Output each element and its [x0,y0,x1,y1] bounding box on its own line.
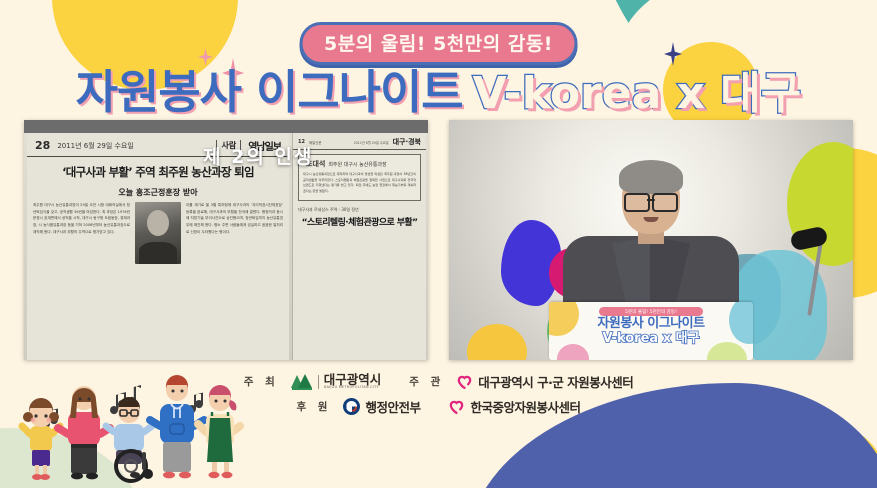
stage-photo: 5분의 울림! 5천만의 감동! 자원봉사 이그나이트 V-korea x 대구 [449,120,853,360]
sponsor-ministry: 행정안전부 [343,397,420,416]
page-number: 28 [35,139,50,152]
eyeglasses-icon [624,193,678,208]
figure-woman-pink [58,386,110,479]
section-label-secondary: 대구·경북 [393,137,421,147]
volunteer-heart-logo-icon [456,373,473,390]
title-korean: 자원봉사 이그나이트 [76,65,463,119]
volunteer-heart-logo-icon [448,398,465,415]
podium-banner: 5분의 울림! 5천만의 감동! 자원봉사 이그나이트 V-korea x 대구 [549,302,753,360]
newspaper-clipping: 28 2011년 6월 29일 수요일 사람 영남일보 ‘대구사과 부활’ 주역… [24,120,428,360]
publication-date-secondary: 2011년 6월 29일 수요일 [354,140,389,145]
daegu-mountain-logo-icon [291,374,313,390]
media-row: 28 2011년 6월 29일 수요일 사람 영남일보 ‘대구사과 부활’ 주역… [24,120,853,360]
article-text-right: 이를 계기로 올 3월 특허청에 대구사과의 ‘지리적표시단체표장’ 등록을 완… [186,202,283,264]
moi-taegeuk-logo-icon [343,398,360,415]
figure-child [22,398,60,480]
interview-box: 초대석최주원 대구시 농산유통과장 대구시 농산유통과장으로 재직하며 대구사과… [298,154,421,201]
secondary-note: 대구사과 르네상스 주역 - 30일 정년 [298,207,421,213]
article-text-left: 최주원 대구시 농산유통과장이 29일 오전 시청 대회의실에서 정년퇴임식을 … [33,202,130,264]
overlay-caption: 제 2의 인생 [203,142,313,169]
article-portrait-photo [135,202,181,264]
article-subhead: 오늘 홍조근정훈장 받아 [27,185,289,202]
podium-title-korean: 자원봉사 이그나이트 [549,317,753,332]
publication-date: 2011년 6월 29일 수요일 [57,141,134,151]
secondary-headline: “스토리텔링·체험관광으로 부활” [296,215,423,228]
scan-top-edge [24,120,428,133]
host-name-block: 대구광역시 DAEGU METROPOLITAN CITY [324,373,382,390]
credit-label-organizer: 주 관 [409,374,444,389]
sponsor-center-name: 한국중앙자원봉사센터 [470,397,580,416]
poster-canvas: 5분의 울림! 5천만의 감동! 자원봉사 이그나이트V-korea x 대구 … [0,0,877,488]
poster-title: 자원봉사 이그나이트V-korea x 대구 [0,56,877,122]
title-english: V-korea x 대구 [473,68,802,119]
figure-woman-apron [198,385,240,478]
sponsor-center: 한국중앙자원봉사센터 [448,397,580,416]
people-holding-hands-graphic [8,370,244,488]
kicker-subtitle: 최주원 대구시 농산유통과장 [328,162,386,168]
organizer-organization: 대구광역시 구·군 자원봉사센터 [456,372,633,391]
sponsor-ministry-name: 행정안전부 [365,397,420,416]
article-body: 최주원 대구시 농산유통과장이 29일 오전 시청 대회의실에서 정년퇴임식을 … [27,202,289,264]
organizer-name: 대구광역시 구·군 자원봉사센터 [478,372,633,391]
speaker-hair [619,160,683,194]
podium-tagline: 5분의 울림! 5천만의 감동! [599,307,703,316]
host-organization: 대구광역시 DAEGU METROPOLITAN CITY [291,373,382,390]
yellow-circle-corner [767,424,877,488]
interview-kicker: 초대석최주원 대구시 농산유통과장 [303,159,416,169]
logo-divider [318,375,319,389]
credit-label-host: 주 최 [244,374,279,389]
host-name-en: DAEGU METROPOLITAN CITY [324,386,382,390]
podium-title-english: V-korea x 대구 [549,332,753,347]
credit-label-sponsor: 후 원 [296,399,331,414]
interview-text: 대구시 농산유통과장으로 재직하며 대구사과의 명성을 되살린 최주원 과장이 … [303,172,416,195]
people-illustration [8,370,244,488]
